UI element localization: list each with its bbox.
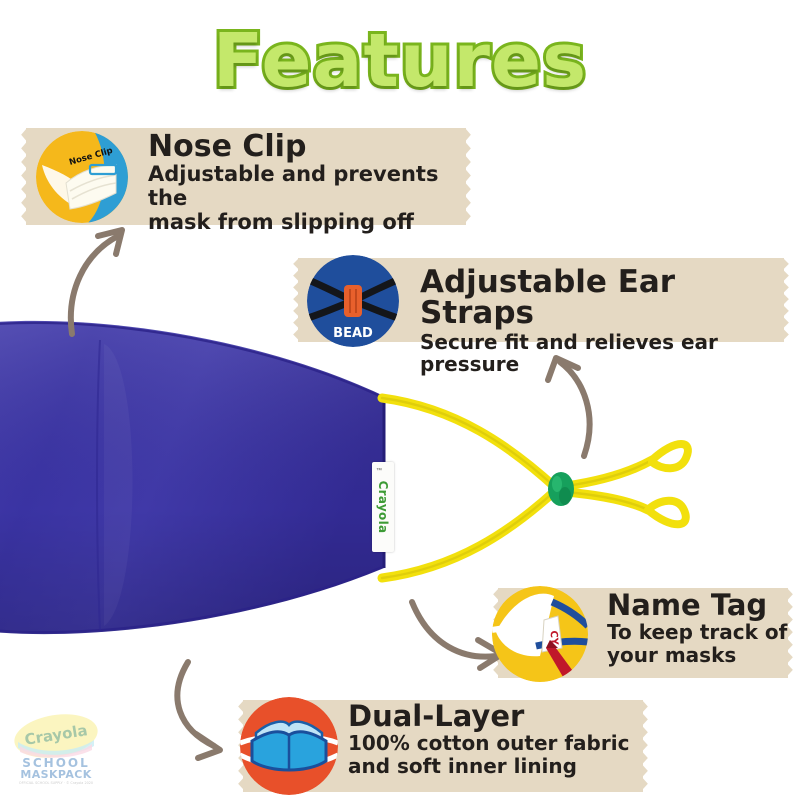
ear-straps-heading: Adjustable Ear Straps: [420, 267, 790, 329]
dual-layer-desc-line1: 100% cotton outer fabric: [348, 732, 648, 754]
name-tag-desc-line2: your masks: [607, 644, 797, 666]
dual-layer-heading: Dual-Layer: [348, 702, 648, 731]
nose-clip-icon: Nose Clip: [36, 131, 128, 223]
dual-layer-desc-line2: and soft inner lining: [348, 755, 648, 777]
nose-clip-text-block: Nose Clip Adjustable and prevents the ma…: [148, 132, 468, 235]
ear-straps-desc-line1: Secure fit and relieves ear pressure: [420, 331, 790, 376]
tag-brand-text: Crayola: [376, 481, 390, 534]
logo-fineprint: OFFICIAL SCHOOL SUPPLY · © Crayola 2020: [8, 781, 104, 785]
ear-straps-text-block: Adjustable Ear Straps Secure fit and rel…: [420, 267, 790, 376]
nose-clip-desc-line2: mask from slipping off: [148, 211, 468, 235]
arrow-to-nose-clip: [62, 222, 172, 340]
nose-clip-heading: Nose Clip: [148, 132, 468, 162]
crayola-product-tag: ™ Crayola: [372, 462, 394, 552]
bead-label: BEAD: [333, 326, 373, 341]
dual-layer-icon: [240, 697, 338, 795]
page-title: Features: [0, 18, 800, 104]
nose-clip-desc-line1: Adjustable and prevents the: [148, 163, 468, 210]
name-tag-heading: Name Tag: [607, 591, 797, 620]
logo-line2: MASKPACK: [8, 768, 104, 781]
dual-layer-text-block: Dual-Layer 100% cotton outer fabric and …: [348, 702, 648, 778]
name-tag-icon: CY: [492, 586, 588, 682]
name-tag-text-block: Name Tag To keep track of your masks: [607, 591, 797, 667]
tag-trademark: ™: [376, 468, 382, 474]
name-tag-desc-line1: To keep track of: [607, 621, 797, 643]
infographic-canvas: Features: [0, 0, 800, 800]
crayola-school-maskpack-logo: Crayola SCHOOL MASKPACK OFFICIAL SCHOOL …: [8, 712, 104, 792]
ear-strap-bead-icon: BEAD: [307, 255, 399, 347]
